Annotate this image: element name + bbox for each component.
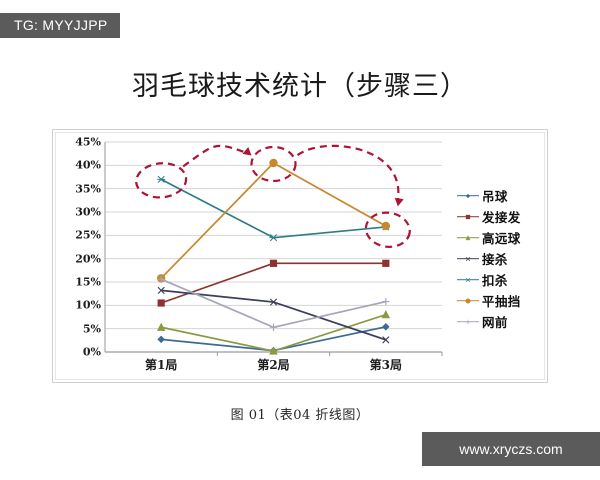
y-tick-label: 20% bbox=[75, 252, 101, 265]
data-point-marker bbox=[158, 336, 164, 342]
legend-item-吊球: 吊球 bbox=[457, 185, 545, 206]
y-tick-label: 0% bbox=[83, 346, 101, 359]
legend-marker-icon bbox=[457, 211, 479, 223]
x-tick-label: 第1局 bbox=[145, 356, 177, 373]
data-point-marker bbox=[466, 257, 470, 261]
y-tick-label: 15% bbox=[75, 276, 101, 289]
data-point-marker bbox=[466, 215, 470, 219]
data-point-marker bbox=[382, 298, 389, 305]
legend-marker-glyph bbox=[465, 277, 471, 283]
data-point-marker bbox=[382, 311, 389, 318]
annotation-arrowhead bbox=[242, 147, 251, 156]
annotation-arrow-2 bbox=[298, 146, 399, 200]
legend-marker-glyph bbox=[465, 319, 471, 325]
data-point-marker bbox=[466, 278, 471, 282]
legend-item-label: 扣杀 bbox=[482, 270, 508, 289]
data-point-marker bbox=[383, 260, 389, 266]
annotation-arrow-1 bbox=[183, 146, 247, 166]
legend-marker-glyph bbox=[465, 235, 471, 241]
y-tick-label: 25% bbox=[75, 229, 101, 242]
legend-marker-icon bbox=[457, 295, 479, 307]
tg-tag-banner: TG: MYYJJPP bbox=[0, 13, 120, 38]
data-point-marker bbox=[382, 222, 390, 230]
legend-item-网前: 网前 bbox=[457, 311, 545, 332]
annotation-arrowhead bbox=[395, 198, 404, 207]
legend-item-label: 接杀 bbox=[482, 249, 508, 268]
legend-marker-glyph bbox=[465, 298, 471, 304]
data-point-marker bbox=[466, 235, 470, 239]
x-axis: 第1局第2局第3局 bbox=[105, 356, 442, 376]
legend-item-label: 发接发 bbox=[482, 207, 521, 226]
legend-item-扣杀: 扣杀 bbox=[457, 269, 545, 290]
data-point-marker bbox=[466, 194, 470, 198]
x-tick-label: 第3局 bbox=[370, 356, 402, 373]
y-tick-label: 45% bbox=[75, 136, 101, 149]
data-point-marker bbox=[158, 300, 164, 306]
legend-marker-icon bbox=[457, 232, 479, 244]
series-网前 bbox=[157, 276, 389, 331]
annotation-ellipse bbox=[135, 161, 188, 199]
series-line bbox=[161, 279, 386, 327]
site-watermark: www.xryczs.com bbox=[422, 432, 600, 466]
data-point-marker bbox=[157, 176, 165, 182]
data-point-marker bbox=[270, 260, 276, 266]
x-tick-label: 第2局 bbox=[257, 356, 289, 373]
series-line bbox=[161, 179, 386, 237]
series-line bbox=[161, 315, 386, 351]
chart-legend: 吊球发接发高远球接杀扣杀平抽挡网前 bbox=[457, 185, 545, 332]
y-tick-label: 30% bbox=[75, 206, 101, 219]
legend-item-高远球: 高远球 bbox=[457, 227, 545, 248]
legend-marker-icon bbox=[457, 190, 479, 202]
data-point-marker bbox=[270, 159, 278, 167]
legend-marker-icon bbox=[457, 316, 479, 328]
legend-item-label: 高远球 bbox=[482, 228, 521, 247]
data-point-marker bbox=[466, 298, 471, 303]
series-line bbox=[161, 263, 386, 303]
legend-marker-glyph bbox=[465, 256, 471, 262]
data-point-marker bbox=[466, 319, 470, 323]
legend-marker-glyph bbox=[465, 214, 471, 220]
y-tick-label: 40% bbox=[75, 159, 101, 172]
annotation-ellipse bbox=[364, 210, 412, 250]
y-tick-label: 35% bbox=[75, 182, 101, 195]
legend-item-label: 吊球 bbox=[482, 186, 508, 205]
legend-marker-glyph bbox=[465, 193, 471, 199]
legend-item-label: 网前 bbox=[482, 312, 508, 331]
legend-item-接杀: 接杀 bbox=[457, 248, 545, 269]
legend-item-平抽挡: 平抽挡 bbox=[457, 290, 545, 311]
y-tick-label: 5% bbox=[83, 322, 101, 335]
legend-item-label: 平抽挡 bbox=[482, 291, 521, 310]
data-point-marker bbox=[270, 324, 277, 331]
legend-marker-icon bbox=[457, 274, 479, 286]
series-发接发 bbox=[158, 260, 389, 306]
figure-caption: 图 01（表04 折线图） bbox=[0, 404, 600, 423]
legend-item-发接发: 发接发 bbox=[457, 206, 545, 227]
plot-area: 0%5%10%15%20%25%30%35%40%45% 第1局第2局第3局 吊… bbox=[53, 130, 549, 384]
y-axis: 0%5%10%15%20%25%30%35%40%45% bbox=[59, 142, 101, 352]
chart-container: 0%5%10%15%20%25%30%35%40%45% 第1局第2局第3局 吊… bbox=[52, 129, 548, 383]
legend-marker-icon bbox=[457, 253, 479, 265]
page-title: 羽毛球技术统计（步骤三） bbox=[0, 64, 600, 103]
series-line bbox=[161, 290, 386, 339]
y-tick-label: 10% bbox=[75, 299, 101, 312]
